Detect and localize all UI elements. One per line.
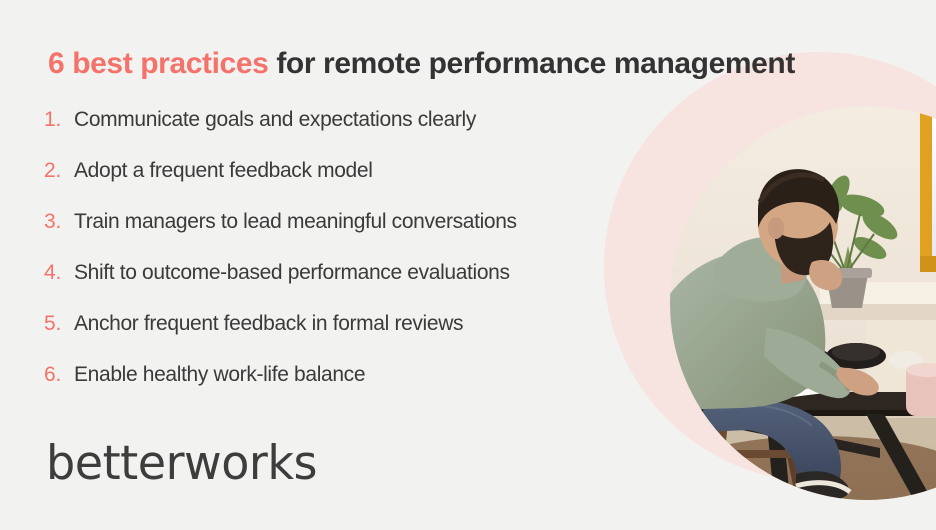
page-title: 6 best practices for remote performance …: [48, 46, 888, 81]
list-item: 3. Train managers to lead meaningful con…: [44, 210, 624, 261]
slide-canvas: 6 best practices for remote performance …: [0, 0, 936, 530]
list-item-number: 1.: [44, 108, 74, 132]
best-practices-list: 1. Communicate goals and expectations cl…: [44, 108, 624, 414]
headline-accent: 6 best practices: [48, 47, 268, 80]
list-item: 1. Communicate goals and expectations cl…: [44, 108, 624, 159]
list-item: 2. Adopt a frequent feedback model: [44, 159, 624, 210]
list-item-label: Train managers to lead meaningful conver…: [74, 210, 517, 234]
list-item-label: Enable healthy work-life balance: [74, 363, 365, 387]
list-item-label: Anchor frequent feedback in formal revie…: [74, 312, 463, 336]
list-item-label: Shift to outcome-based performance evalu…: [74, 261, 510, 285]
list-item: 5. Anchor frequent feedback in formal re…: [44, 312, 624, 363]
list-item: 6. Enable healthy work-life balance: [44, 363, 624, 414]
list-item-number: 2.: [44, 159, 74, 183]
list-item-label: Adopt a frequent feedback model: [74, 159, 373, 183]
list-item-number: 4.: [44, 261, 74, 285]
pink-mug-icon: [906, 363, 936, 416]
betterworks-logo: betterworks: [46, 440, 317, 487]
list-item: 4. Shift to outcome-based performance ev…: [44, 261, 624, 312]
list-item-number: 6.: [44, 363, 74, 387]
list-item-number: 5.: [44, 312, 74, 336]
list-item-number: 3.: [44, 210, 74, 234]
list-item-label: Communicate goals and expectations clear…: [74, 108, 476, 132]
headline-rest: for remote performance management: [268, 47, 795, 80]
